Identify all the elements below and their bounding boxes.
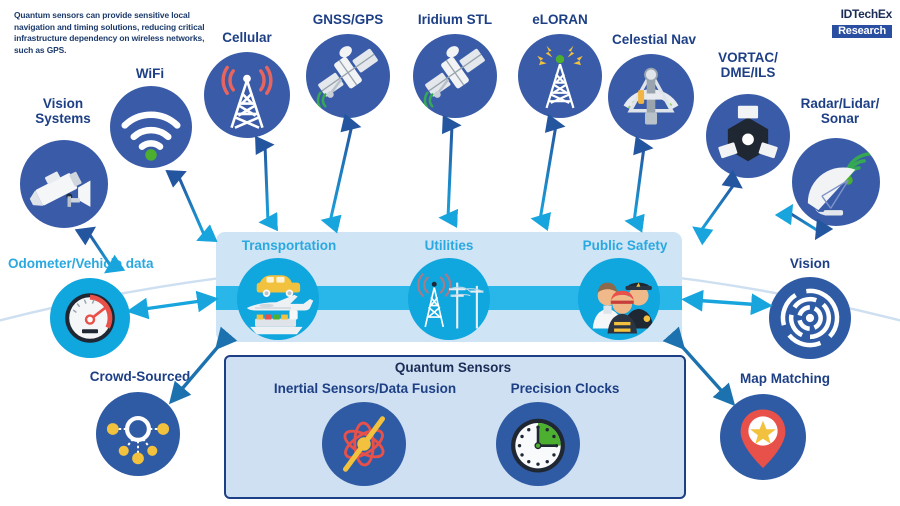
clock-icon bbox=[496, 402, 580, 486]
node-map-matching[interactable] bbox=[720, 394, 806, 480]
node-radar-lidar-sonar[interactable] bbox=[792, 138, 880, 226]
satellite-icon bbox=[413, 34, 497, 118]
atom-gyroscope-icon bbox=[322, 402, 406, 486]
node-eloran[interactable] bbox=[518, 34, 602, 118]
label-crowd-sourced: Crowd-Sourced bbox=[70, 369, 210, 384]
map-pin-icon bbox=[720, 394, 806, 480]
network-nodes-icon bbox=[96, 392, 180, 476]
label-odometer: Odometer/Vehicle data bbox=[8, 256, 188, 271]
logo-sub: Research bbox=[832, 25, 892, 38]
node-utilities[interactable] bbox=[408, 258, 490, 340]
label-cellular: Cellular bbox=[200, 30, 294, 45]
label-vision-systems: Vision Systems bbox=[8, 96, 118, 126]
infographic-canvas: Quantum sensors can provide sensitive lo… bbox=[0, 0, 900, 506]
intro-paragraph: Quantum sensors can provide sensitive lo… bbox=[14, 10, 214, 56]
label-wifi: WiFi bbox=[105, 66, 195, 81]
node-gnss-gps[interactable] bbox=[306, 34, 390, 118]
node-public-safety[interactable] bbox=[578, 258, 660, 340]
speedometer-icon bbox=[50, 278, 130, 358]
label-iridium-stl: Iridium STL bbox=[400, 12, 510, 27]
node-vortac[interactable] bbox=[706, 94, 790, 178]
quantum-sensors-box bbox=[224, 355, 686, 499]
label-celestial-nav: Celestial Nav bbox=[594, 32, 714, 47]
node-inertial-sensors[interactable] bbox=[322, 402, 406, 486]
loran-tower-icon bbox=[518, 34, 602, 118]
label-public-safety: Public Safety bbox=[565, 238, 685, 253]
node-vision[interactable] bbox=[769, 277, 851, 359]
target-rings-icon bbox=[769, 277, 851, 359]
node-wifi[interactable] bbox=[110, 86, 192, 168]
emergency-workers-icon bbox=[578, 258, 660, 340]
logo-brand: IDTechEx bbox=[820, 8, 892, 21]
node-precision-clocks[interactable] bbox=[496, 402, 580, 486]
cctv-camera-icon bbox=[20, 140, 108, 228]
node-celestial-nav[interactable] bbox=[608, 54, 694, 140]
label-eloran: eLORAN bbox=[508, 12, 612, 27]
satellite-icon bbox=[306, 34, 390, 118]
radar-dish-icon bbox=[792, 138, 880, 226]
transport-icon bbox=[237, 258, 319, 340]
label-precision-clocks: Precision Clocks bbox=[470, 381, 660, 396]
node-vision-systems[interactable] bbox=[20, 140, 108, 228]
power-grid-icon bbox=[408, 258, 490, 340]
label-utilities: Utilities bbox=[404, 238, 494, 253]
vortac-antenna-icon bbox=[706, 94, 790, 178]
label-inertial-sensors: Inertial Sensors/Data Fusion bbox=[260, 381, 470, 396]
node-transportation[interactable] bbox=[237, 258, 319, 340]
idtechex-logo: IDTechEx Research bbox=[820, 8, 892, 39]
cell-tower-icon bbox=[204, 52, 290, 138]
sextant-icon bbox=[608, 54, 694, 140]
label-gnss-gps: GNSS/GPS bbox=[298, 12, 398, 27]
node-cellular[interactable] bbox=[204, 52, 290, 138]
node-iridium-stl[interactable] bbox=[413, 34, 497, 118]
label-transportation: Transportation bbox=[224, 238, 354, 253]
label-vortac: VORTAC/ DME/ILS bbox=[700, 50, 796, 80]
label-radar-lidar-sonar: Radar/Lidar/ Sonar bbox=[782, 96, 898, 126]
quantum-sensors-title: Quantum Sensors bbox=[224, 360, 682, 375]
label-vision: Vision bbox=[760, 256, 860, 271]
wifi-icon bbox=[110, 86, 192, 168]
label-map-matching: Map Matching bbox=[710, 371, 860, 386]
node-crowd-sourced[interactable] bbox=[96, 392, 180, 476]
node-odometer[interactable] bbox=[50, 278, 130, 358]
